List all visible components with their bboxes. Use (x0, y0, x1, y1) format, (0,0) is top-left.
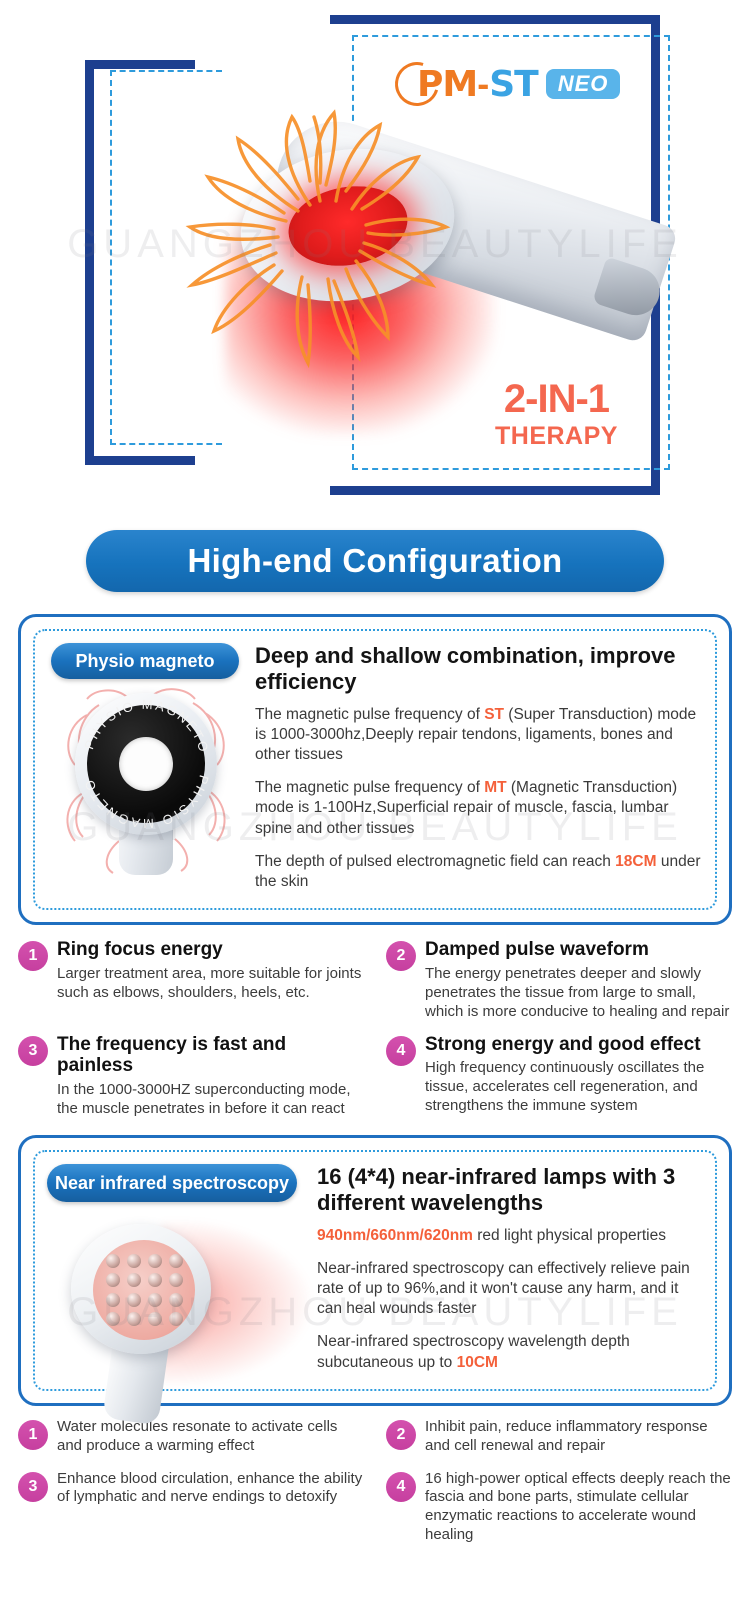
product-logo: PM - ST NEO (395, 58, 645, 110)
led (127, 1312, 141, 1326)
nir-paragraph-1: 940nm/660nm/620nm red light physical pro… (317, 1226, 701, 1246)
np1-highlight: 940nm/660nm/620nm (317, 1227, 473, 1244)
feature-number-badge: 3 (18, 1472, 48, 1502)
magneto-left-column: Physio magneto (49, 643, 249, 892)
feature-text: In the 1000-3000HZ superconducting mode,… (57, 1081, 364, 1119)
magneto-feature-grid: 1 Ring focus energy Larger treatment are… (18, 939, 732, 1119)
feature-number-badge: 3 (18, 1036, 48, 1066)
nir-lamp-image (51, 1210, 261, 1410)
feature-text: Inhibit pain, reduce inflammatory respon… (425, 1418, 732, 1456)
led (169, 1312, 183, 1326)
feature-title: Damped pulse waveform (425, 939, 732, 961)
feature-item: 4 16 high-power optical effects deeply r… (386, 1470, 732, 1546)
led (148, 1273, 162, 1287)
feature-text: The energy penetrates deeper and slowly … (425, 965, 732, 1022)
led (148, 1312, 162, 1326)
led (169, 1273, 183, 1287)
led (106, 1312, 120, 1326)
led (148, 1254, 162, 1268)
p1-pre: The magnetic pulse frequency of (255, 706, 484, 723)
magneto-paragraph-3: The depth of pulsed electromagnetic fiel… (255, 852, 701, 892)
magneto-paragraph-2: The magnetic pulse frequency of MT (Magn… (255, 778, 701, 838)
feature-item: 3 The frequency is fast and painless In … (18, 1034, 364, 1119)
p2-highlight: MT (484, 779, 506, 796)
hero-claim: 2-IN-1 THERAPY (495, 378, 618, 451)
logo-dash: - (477, 63, 489, 105)
p3-highlight: 18CM (615, 853, 656, 870)
hero-device-image (120, 95, 640, 395)
claim-line-1: 2-IN-1 (495, 378, 618, 420)
feature-item: 1 Ring focus energy Larger treatment are… (18, 939, 364, 1022)
led (127, 1254, 141, 1268)
logo-neo-badge: NEO (546, 69, 621, 99)
feature-item: 4 Strong energy and good effect High fre… (386, 1034, 732, 1119)
nir-right-column: 16 (4*4) near-infrared lamps with 3 diff… (311, 1164, 701, 1373)
claim-line-2: THERAPY (495, 422, 618, 451)
feature-number-badge: 2 (386, 941, 416, 971)
np2-pre: Near-infrared spectroscopy can effective… (317, 1260, 690, 1317)
magneto-right-column: Deep and shallow combination, improve ef… (249, 643, 701, 892)
np3-highlight: 10CM (457, 1354, 498, 1371)
nir-paragraph-3: Near-infrared spectroscopy wavelength de… (317, 1332, 701, 1372)
nir-paragraph-2: Near-infrared spectroscopy can effective… (317, 1259, 701, 1319)
nir-feature-grid: 1 Water molecules resonate to activate c… (18, 1418, 732, 1545)
feature-number-badge: 4 (386, 1036, 416, 1066)
magneto-ring-label: PHYSIO MAGNETO PHYSIO MAGNETO (57, 685, 237, 875)
led (169, 1254, 183, 1268)
nir-left-column: Near infrared spectroscopy (49, 1164, 311, 1373)
feature-item: 2 Inhibit pain, reduce inflammatory resp… (386, 1418, 732, 1456)
near-infrared-section: Near infrared spectroscopy 16 (4*4) near… (18, 1135, 732, 1406)
svg-text:PHYSIO MAGNETO: PHYSIO MAGNETO (81, 773, 212, 831)
feature-text: Larger treatment area, more suitable for… (57, 965, 364, 1003)
pill-near-infrared: Near infrared spectroscopy (47, 1164, 297, 1202)
led (106, 1273, 120, 1287)
feature-number-badge: 1 (18, 941, 48, 971)
pill-physio-magneto: Physio magneto (51, 643, 239, 679)
np1-post: red light physical properties (473, 1227, 666, 1244)
nir-led-array (93, 1240, 195, 1340)
feature-text: Water molecules resonate to activate cel… (57, 1418, 364, 1456)
feature-text: Enhance blood circulation, enhance the a… (57, 1470, 364, 1508)
feature-number-badge: 1 (18, 1420, 48, 1450)
feature-text: High frequency continuously oscillates t… (425, 1059, 732, 1116)
nir-heading: 16 (4*4) near-infrared lamps with 3 diff… (317, 1164, 701, 1216)
led (148, 1293, 162, 1307)
feature-title: The frequency is fast and painless (57, 1034, 364, 1078)
p1-highlight: ST (484, 706, 504, 723)
physio-magneto-section: Physio magneto (18, 614, 732, 925)
feature-title: Strong energy and good effect (425, 1034, 732, 1056)
feature-number-badge: 2 (386, 1420, 416, 1450)
feature-item: 1 Water molecules resonate to activate c… (18, 1418, 364, 1456)
led (106, 1254, 120, 1268)
feature-item: 2 Damped pulse waveform The energy penet… (386, 939, 732, 1022)
energy-rays-icon (160, 95, 500, 385)
logo-st-text: ST (489, 64, 537, 105)
led (169, 1293, 183, 1307)
led (127, 1293, 141, 1307)
feature-title: Ring focus energy (57, 939, 364, 961)
led (127, 1273, 141, 1287)
feature-text: 16 high-power optical effects deeply rea… (425, 1470, 732, 1546)
feature-item: 3 Enhance blood circulation, enhance the… (18, 1470, 364, 1546)
magneto-paragraph-1: The magnetic pulse frequency of ST (Supe… (255, 705, 701, 765)
svg-text:PHYSIO MAGNETO: PHYSIO MAGNETO (81, 697, 212, 755)
hero-section: PM - ST NEO 2-IN-1 THERAPY GUANGZHOU BEA… (0, 0, 750, 520)
p3-pre: The depth of pulsed electromagnetic fiel… (255, 853, 615, 870)
magneto-ring-image: PHYSIO MAGNETO PHYSIO MAGNETO (57, 685, 237, 875)
section-banner: High-end Configuration (86, 530, 664, 592)
led (106, 1293, 120, 1307)
feature-number-badge: 4 (386, 1472, 416, 1502)
p2-pre: The magnetic pulse frequency of (255, 779, 484, 796)
magneto-heading: Deep and shallow combination, improve ef… (255, 643, 701, 695)
